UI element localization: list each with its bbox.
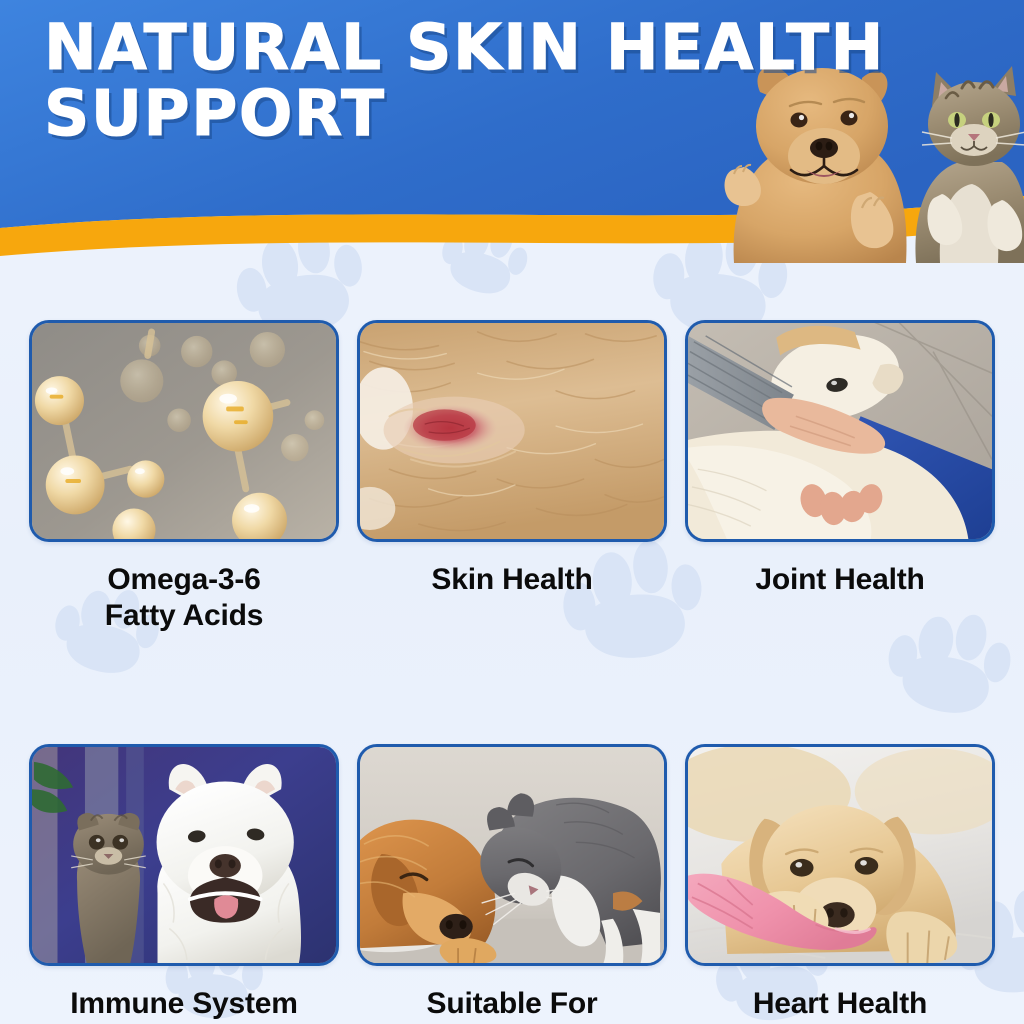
dog-illustration <box>725 67 907 263</box>
dog-paw-left <box>725 165 761 206</box>
benefit-label-immune-system: Immune System <box>29 986 339 1022</box>
title-line-1: NATURAL SKIN HEALTH <box>44 16 744 80</box>
hand-holding-dog-paw-illustration <box>688 323 992 539</box>
caption-line-1: Immune System <box>29 986 339 1022</box>
caption-line-1: Joint Health <box>685 562 995 598</box>
benefit-image-suitable-for-dogs-and-cats <box>357 744 667 966</box>
caption-line-2: Fatty Acids <box>29 598 339 634</box>
retriever-and-grey-cat-illustration <box>360 747 664 963</box>
infographic-canvas: NATURAL SKIN HEALTH SUPPORT <box>0 0 1024 1024</box>
benefit-image-joint-health <box>685 320 995 542</box>
caption-line-1: Skin Health <box>357 562 667 598</box>
benefit-label-heart-health: Heart Health <box>685 986 995 1022</box>
benefit-card-omega-3-6-fatty-acids[interactable]: Omega-3-6 Fatty Acids <box>29 320 339 634</box>
title-line-2: SUPPORT <box>44 82 744 146</box>
benefit-image-immune-system <box>29 744 339 966</box>
benefit-card-suitable-for-dogs-and-cats[interactable]: Suitable For Dogs And Cats <box>357 744 667 1024</box>
benefit-image-heart-health <box>685 744 995 966</box>
header-title: NATURAL SKIN HEALTH SUPPORT <box>44 16 744 146</box>
benefit-label-skin-health: Skin Health <box>357 562 667 598</box>
caption-line-1: Heart Health <box>685 986 995 1022</box>
molecule-droplets-illustration <box>32 323 336 539</box>
benefit-card-joint-health[interactable]: Joint Health <box>685 320 995 634</box>
benefit-image-skin-health <box>357 320 667 542</box>
benefit-image-omega-3-6-fatty-acids <box>29 320 339 542</box>
benefit-card-skin-health[interactable]: Skin Health <box>357 320 667 634</box>
benefits-grid: Omega-3-6 Fatty Acids <box>0 320 1024 1024</box>
header-banner: NATURAL SKIN HEALTH SUPPORT <box>0 0 1024 262</box>
labrador-puppy-pink-glove-illustration <box>688 747 992 963</box>
caption-line-1: Omega-3-6 <box>29 562 339 598</box>
caption-line-1: Suitable For <box>357 986 667 1022</box>
cat-illustration <box>915 66 1024 263</box>
benefit-label-joint-health: Joint Health <box>685 562 995 598</box>
benefit-label-suitable-for-dogs-and-cats: Suitable For Dogs And Cats <box>357 986 667 1024</box>
white-dog-and-cat-illustration <box>32 747 336 963</box>
dog-skin-irritation-illustration <box>360 323 664 539</box>
benefit-card-immune-system[interactable]: Immune System <box>29 744 339 1024</box>
benefit-card-heart-health[interactable]: Heart Health <box>685 744 995 1024</box>
benefit-label-omega-3-6-fatty-acids: Omega-3-6 Fatty Acids <box>29 562 339 634</box>
